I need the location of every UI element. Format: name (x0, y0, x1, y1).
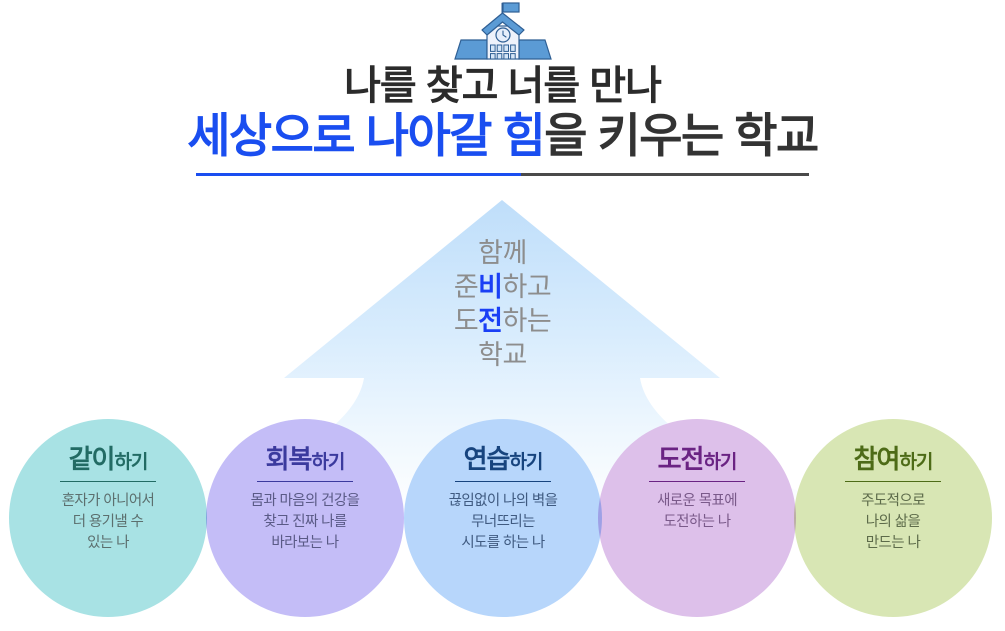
circle-participate-description-line: 나의 삶을 (788, 512, 998, 533)
circle-together-title: 같이하기 (3, 445, 213, 474)
circle-practice-description-line: 무너뜨리는 (398, 512, 608, 533)
circle-practice-title-suffix: 하기 (509, 452, 542, 473)
circle-practice-description-line: 시도를 하는 나 (398, 533, 608, 554)
circle-together-title-main: 같이 (69, 444, 115, 474)
circle-together-title-underline (60, 481, 156, 483)
circle-challenge-title-main: 도전 (658, 444, 704, 474)
circle-practice-title-main: 연습 (464, 444, 510, 474)
circle-recover-description-line: 바라보는 나 (200, 533, 410, 554)
circle-recover-description: 몸과 마음의 건강을찾고 진짜 나를바라보는 나 (200, 491, 410, 554)
circle-participate-title: 참여하기 (788, 445, 998, 474)
circle-participate-description: 주도적으로나의 삶을만드는 나 (788, 491, 998, 554)
circle-together-label: 같이하기혼자가 아니어서더 용기낼 수있는 나 (3, 445, 213, 554)
circle-recover-title-suffix: 하기 (311, 452, 344, 473)
circle-recover-description-line: 찾고 진짜 나를 (200, 512, 410, 533)
circle-recover-title: 회복하기 (200, 445, 410, 474)
circle-challenge-title-underline (649, 481, 745, 483)
circle-participate-description-line: 주도적으로 (788, 491, 998, 512)
circle-recover-description-line: 몸과 마음의 건강을 (200, 491, 410, 512)
infographic-canvas: 나를 찾고 너를 만나 세상으로 나아갈 힘을 키우는 학교 함께 준비하고 도… (0, 0, 1005, 631)
circle-together-description-line: 혼자가 아니어서 (3, 491, 213, 512)
circle-participate-title-underline (845, 481, 941, 483)
circle-participate-description-line: 만드는 나 (788, 533, 998, 554)
circle-challenge-title: 도전하기 (592, 445, 802, 474)
circle-together-description-line: 있는 나 (3, 533, 213, 554)
circle-challenge-description-line: 새로운 목표에 (592, 491, 802, 512)
circle-participate-label: 참여하기주도적으로나의 삶을만드는 나 (788, 445, 998, 554)
circle-practice-description-line: 끊임없이 나의 벽을 (398, 491, 608, 512)
circle-practice-title: 연습하기 (398, 445, 608, 474)
circle-challenge-label: 도전하기새로운 목표에도전하는 나 (592, 445, 802, 533)
circle-challenge-description-line: 도전하는 나 (592, 512, 802, 533)
circle-practice-title-underline (455, 481, 551, 483)
circle-together-title-suffix: 하기 (114, 452, 147, 473)
circle-challenge-title-suffix: 하기 (703, 452, 736, 473)
circle-challenge-description: 새로운 목표에도전하는 나 (592, 491, 802, 533)
circle-together-description-line: 더 용기낼 수 (3, 512, 213, 533)
circle-recover-title-main: 회복 (266, 444, 312, 474)
circle-together-description: 혼자가 아니어서더 용기낼 수있는 나 (3, 491, 213, 554)
circle-practice-description: 끊임없이 나의 벽을무너뜨리는시도를 하는 나 (398, 491, 608, 554)
circle-participate-title-main: 참여 (854, 444, 900, 474)
circle-practice-label: 연습하기끊임없이 나의 벽을무너뜨리는시도를 하는 나 (398, 445, 608, 554)
circle-participate-title-suffix: 하기 (899, 452, 932, 473)
circle-recover-title-underline (257, 481, 353, 483)
circle-recover-label: 회복하기몸과 마음의 건강을찾고 진짜 나를바라보는 나 (200, 445, 410, 554)
